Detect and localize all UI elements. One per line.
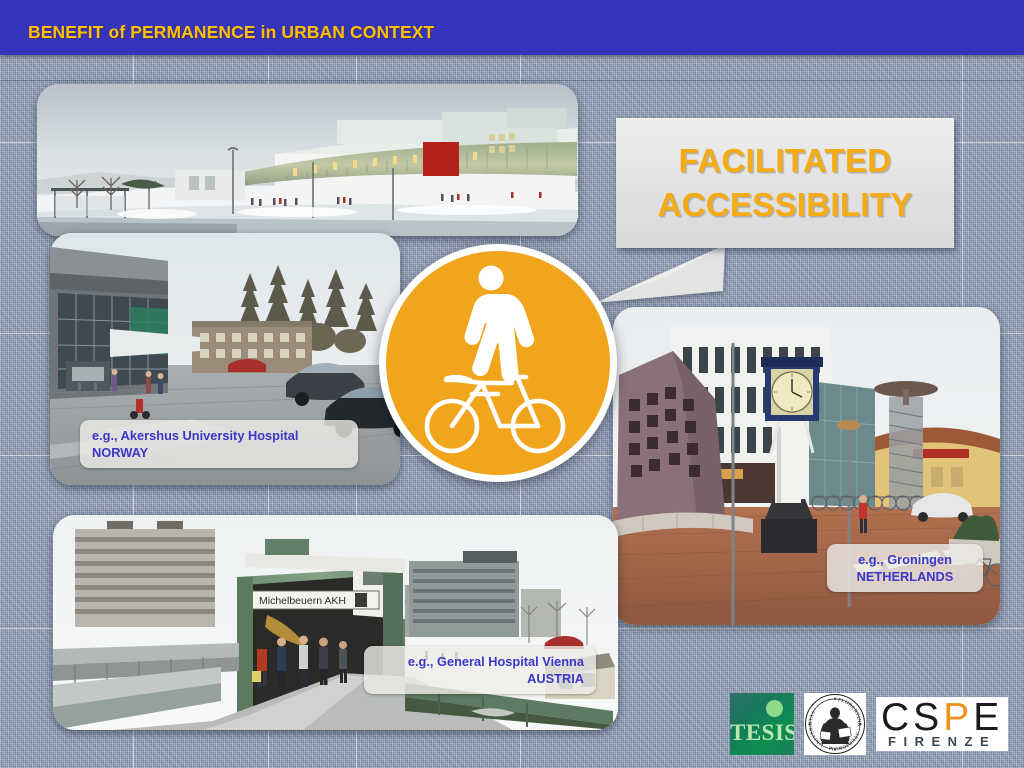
caption-line-1: e.g., Groningen: [839, 551, 971, 568]
caption-akershus: e.g., Akershus University Hospital NORWA…: [80, 420, 358, 468]
callout-facilitated-accessibility: FACILITATED ACCESSIBILITY: [616, 118, 954, 248]
logo-row: TESIS FLORENTINA · STUDIORUM · UNIVERSIT…: [730, 693, 1008, 755]
cspe-firenze-logo: CSPE FIRENZE: [876, 697, 1008, 751]
station-sign-text: Michelbeuern AKH: [259, 595, 346, 607]
slide-title-bar: BENEFIT of PERMANENCE in URBAN CONTEXT: [0, 0, 1024, 55]
tesis-logo-text: TESIS: [730, 720, 794, 746]
caption-line-2: NORWAY: [92, 444, 346, 461]
callout-tail: [595, 245, 725, 305]
caption-line-1: e.g., General Hospital Vienna: [376, 653, 584, 670]
caption-line-1: e.g., Akershus University Hospital: [92, 427, 346, 444]
tesis-logo-dot: [766, 700, 783, 717]
caption-groningen: e.g., Groningen NETHERLANDS: [827, 544, 983, 592]
caption-line-2: AUSTRIA: [376, 670, 584, 687]
university-of-florence-seal-logo: FLORENTINA · STUDIORUM · UNIVERSITAS ·: [804, 693, 866, 755]
grid-line-horizontal: [0, 80, 1024, 81]
page-title: BENEFIT of PERMANENCE in URBAN CONTEXT: [28, 22, 434, 43]
photo-groningen-station: e.g., Groningen NETHERLANDS: [613, 307, 1000, 625]
caption-line-2: NETHERLANDS: [839, 568, 971, 585]
tesis-logo: TESIS: [730, 693, 794, 755]
pedestrian-and-bicycle-sign: [379, 244, 617, 482]
sign-symbols: [386, 251, 610, 475]
cspe-logo-subtitle: FIRENZE: [881, 734, 1003, 749]
photo-vienna-akh: Michelbeuern AKH: [53, 515, 618, 730]
seal-illustration: FLORENTINA · STUDIORUM · UNIVERSITAS ·: [804, 693, 866, 755]
bicycle-icon: [427, 377, 563, 451]
photo-akershus-exterior-image: [37, 84, 578, 236]
caption-vienna: e.g., General Hospital Vienna AUSTRIA: [364, 646, 596, 694]
callout-line-2: ACCESSIBILITY: [657, 183, 912, 227]
slide-canvas: BENEFIT of PERMANENCE in URBAN CONTEXT: [0, 0, 1024, 768]
pedestrian-icon: [465, 266, 535, 383]
photo-akershus-entrance: e.g., Akershus University Hospital NORWA…: [50, 233, 400, 485]
cspe-logo-letters: CSPE: [881, 700, 1003, 736]
photo-akershus-exterior: [37, 84, 578, 236]
callout-line-1: FACILITATED: [679, 139, 892, 183]
photo-vienna-akh-image: Michelbeuern AKH: [53, 515, 618, 730]
